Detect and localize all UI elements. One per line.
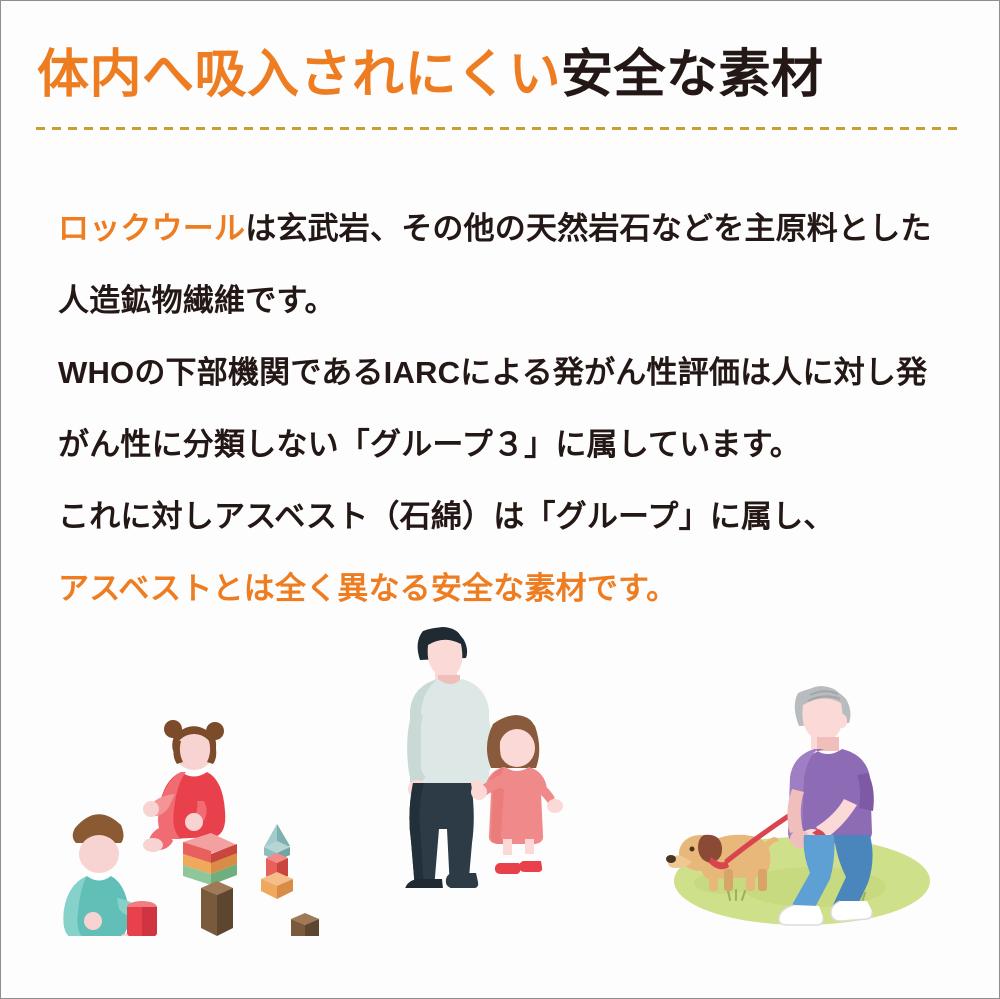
header-block: 体内へ吸入されにくい安全な素材	[1, 1, 1000, 151]
slide-page: 体内へ吸入されにくい安全な素材 ロックウールは玄武岩、その他の天然岩石などを主原…	[0, 0, 1000, 999]
illustration-band	[1, 601, 1000, 946]
body-line-dark: がん性に分類しない「グループ３」に属しています。	[58, 427, 801, 462]
page-title-dark: 安全な素材	[561, 46, 824, 104]
body-line: ロックウールは玄武岩、その他の天然岩石などを主原料とした	[58, 193, 958, 265]
parent-child-illustration	[383, 623, 583, 888]
cylinder-block-icon	[127, 901, 157, 936]
body-line: WHOの下部機関であるIARCによる発がん性評価は人に対し発	[58, 337, 958, 409]
body-copy: ロックウールは玄武岩、その他の天然岩石などを主原料とした 人造鉱物繊維です。 W…	[58, 193, 958, 625]
parent-child-svg	[383, 623, 583, 888]
brown-box-small-icon	[291, 913, 319, 936]
body-line-dark: 人造鉱物繊維です。	[58, 283, 336, 318]
body-line: これに対しアスベスト（石綿）は「グループ」に属し、	[58, 481, 958, 553]
body-line: 人造鉱物繊維です。	[58, 265, 958, 337]
adult-figure-icon	[405, 627, 492, 888]
body-line-accent: ロックウール	[58, 211, 245, 246]
children-blocks-illustration	[63, 706, 363, 936]
elder-dog-illustration	[664, 669, 949, 929]
body-line-dark: WHOの下部機関であるIARCによる発がん性評価は人に対し発	[58, 355, 927, 390]
house-block-icon	[183, 833, 237, 885]
title-divider	[36, 127, 963, 130]
page-title: 体内へ吸入されにくい安全な素材	[37, 48, 823, 103]
brown-box-tall-icon	[201, 881, 233, 936]
girl-figure-icon	[143, 720, 225, 852]
page-title-accent: 体内へ吸入されにくい	[37, 46, 561, 104]
body-line-dark: これに対しアスベスト（石綿）は「グループ」に属し、	[58, 499, 835, 534]
elder-dog-svg	[664, 669, 949, 929]
tower-block-icon	[261, 824, 293, 899]
body-line: がん性に分類しない「グループ３」に属しています。	[58, 409, 958, 481]
body-line-dark: は玄武岩、その他の天然岩石などを主原料とした	[245, 211, 931, 246]
children-blocks-svg	[63, 706, 363, 936]
